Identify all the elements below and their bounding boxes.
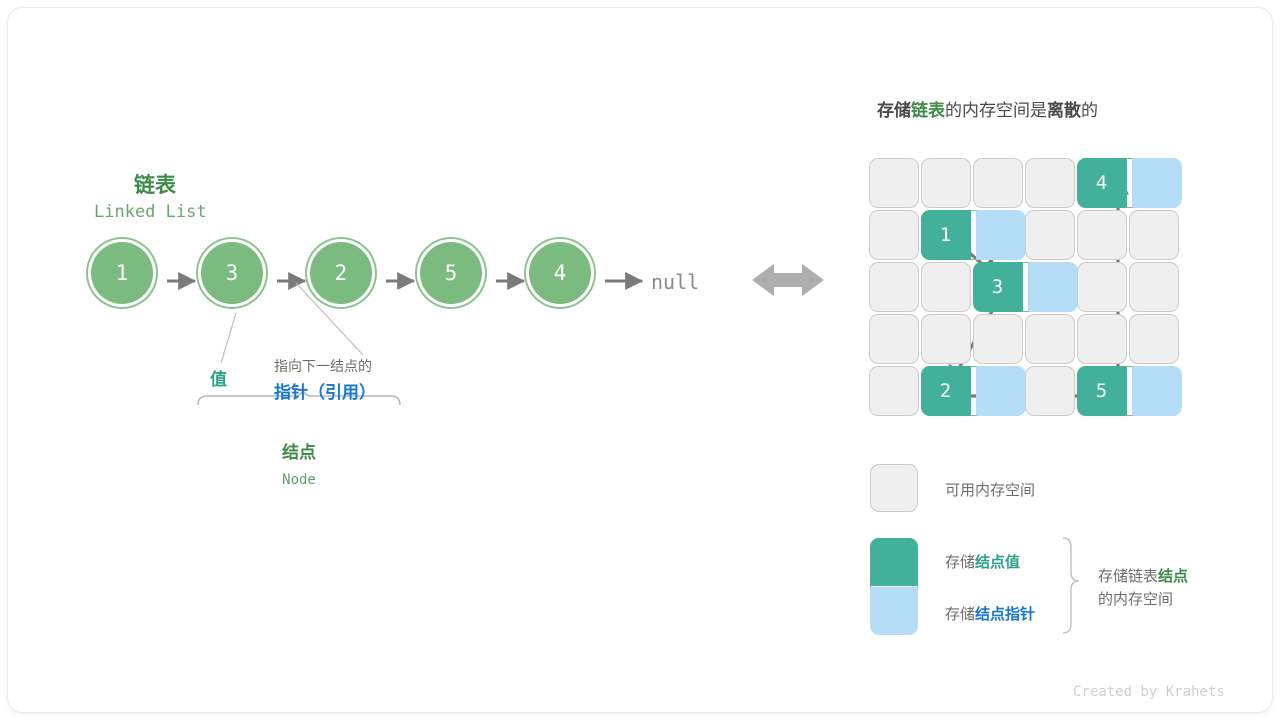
memory-cell-free[interactable] (973, 158, 1023, 208)
legend-brace-line1-bold: 结点 (1158, 568, 1188, 585)
list-node[interactable]: 5 (420, 242, 482, 304)
memory-cell-free[interactable] (1129, 262, 1179, 312)
node-label-en: Node (249, 472, 349, 488)
memory-node-pair[interactable]: 1 (921, 210, 1025, 260)
memory-cell-free[interactable] (1129, 314, 1179, 364)
memory-cell-free[interactable] (1077, 262, 1127, 312)
legend-swatch-pointer (870, 587, 918, 635)
list-node[interactable]: 4 (529, 242, 591, 304)
memory-cell-free[interactable] (973, 314, 1023, 364)
memory-title-part-bold: 离散 (1047, 101, 1081, 120)
node-label-cn: 结点 (249, 438, 349, 463)
memory-node-pair[interactable]: 5 (1077, 366, 1181, 416)
memory-cell-pointer (976, 210, 1026, 260)
memory-cell-value: 5 (1077, 366, 1127, 416)
legend-brace-line1-plain: 存储链表 (1098, 568, 1158, 585)
legend-value-label-plain: 存储 (945, 554, 975, 571)
memory-cell-pointer (1132, 366, 1182, 416)
memory-cell-free[interactable] (921, 158, 971, 208)
legend-value-label: 存储结点值 (945, 551, 1020, 572)
linked-list-title-cn: 链表 (134, 169, 176, 199)
memory-node-pair[interactable]: 4 (1077, 158, 1181, 208)
pointer-annotation-line1: 指向下一结点的 (274, 356, 372, 376)
memory-title-part-highlight: 链表 (911, 101, 945, 120)
legend-free-label: 可用内存空间 (945, 479, 1035, 500)
memory-cell-value: 1 (921, 210, 971, 260)
equivalence-double-arrow (752, 264, 824, 296)
legend-pointer-label: 存储结点指针 (945, 603, 1035, 624)
legend-swatch-free (870, 464, 918, 512)
memory-cell-value: 2 (921, 366, 971, 416)
diagram-card: 链表 Linked List 1 3 2 5 4 null 值 指向下一结点的 … (8, 8, 1272, 712)
legend-brace-line2: 的内存空间 (1098, 588, 1173, 609)
memory-cell-free[interactable] (869, 262, 919, 312)
memory-node-pair[interactable]: 2 (921, 366, 1025, 416)
memory-cell-free[interactable] (869, 314, 919, 364)
memory-cell-pointer (976, 366, 1026, 416)
memory-cell-free[interactable] (1077, 210, 1127, 260)
memory-cell-value: 3 (973, 262, 1023, 312)
memory-grid: 4 1 3 2 (869, 158, 1181, 418)
list-node[interactable]: 1 (91, 242, 153, 304)
linked-list-title-en: Linked List (94, 202, 207, 222)
memory-cell-free[interactable] (1129, 210, 1179, 260)
list-node[interactable]: 2 (310, 242, 372, 304)
memory-title-part: 的 (1081, 101, 1098, 120)
memory-cell-free[interactable] (1025, 210, 1075, 260)
pointer-annotation-line2: 指针（引用） (274, 378, 376, 403)
memory-title-part: 的内存空间是 (945, 101, 1047, 120)
memory-node-pair[interactable]: 3 (973, 262, 1077, 312)
footer-credit: Created by Krahets (1073, 684, 1225, 700)
memory-cell-pointer (1028, 262, 1078, 312)
value-annotation-label: 值 (210, 365, 227, 390)
legend-brace-line1: 存储链表结点 (1098, 565, 1188, 586)
memory-cell-free[interactable] (869, 158, 919, 208)
memory-cell-free[interactable] (1025, 314, 1075, 364)
memory-cell-free[interactable] (921, 314, 971, 364)
memory-cell-free[interactable] (1025, 158, 1075, 208)
legend-swatch-node (870, 538, 918, 634)
memory-title-part: 存储 (877, 101, 911, 120)
legend-value-label-bold: 结点值 (975, 554, 1020, 571)
memory-cell-value: 4 (1077, 158, 1127, 208)
memory-title: 存储链表的内存空间是离散的 (877, 96, 1098, 121)
legend-pointer-label-plain: 存储 (945, 606, 975, 623)
memory-cell-pointer (1132, 158, 1182, 208)
legend-pointer-label-bold: 结点指针 (975, 606, 1035, 623)
memory-cell-free[interactable] (869, 210, 919, 260)
memory-cell-free[interactable] (921, 262, 971, 312)
memory-cell-free[interactable] (1077, 314, 1127, 364)
memory-cell-free[interactable] (1025, 366, 1075, 416)
null-terminator: null (651, 270, 699, 294)
memory-cell-free[interactable] (869, 366, 919, 416)
legend-swatch-value (870, 538, 918, 586)
legend-brace (1063, 538, 1079, 633)
list-node[interactable]: 3 (201, 242, 263, 304)
